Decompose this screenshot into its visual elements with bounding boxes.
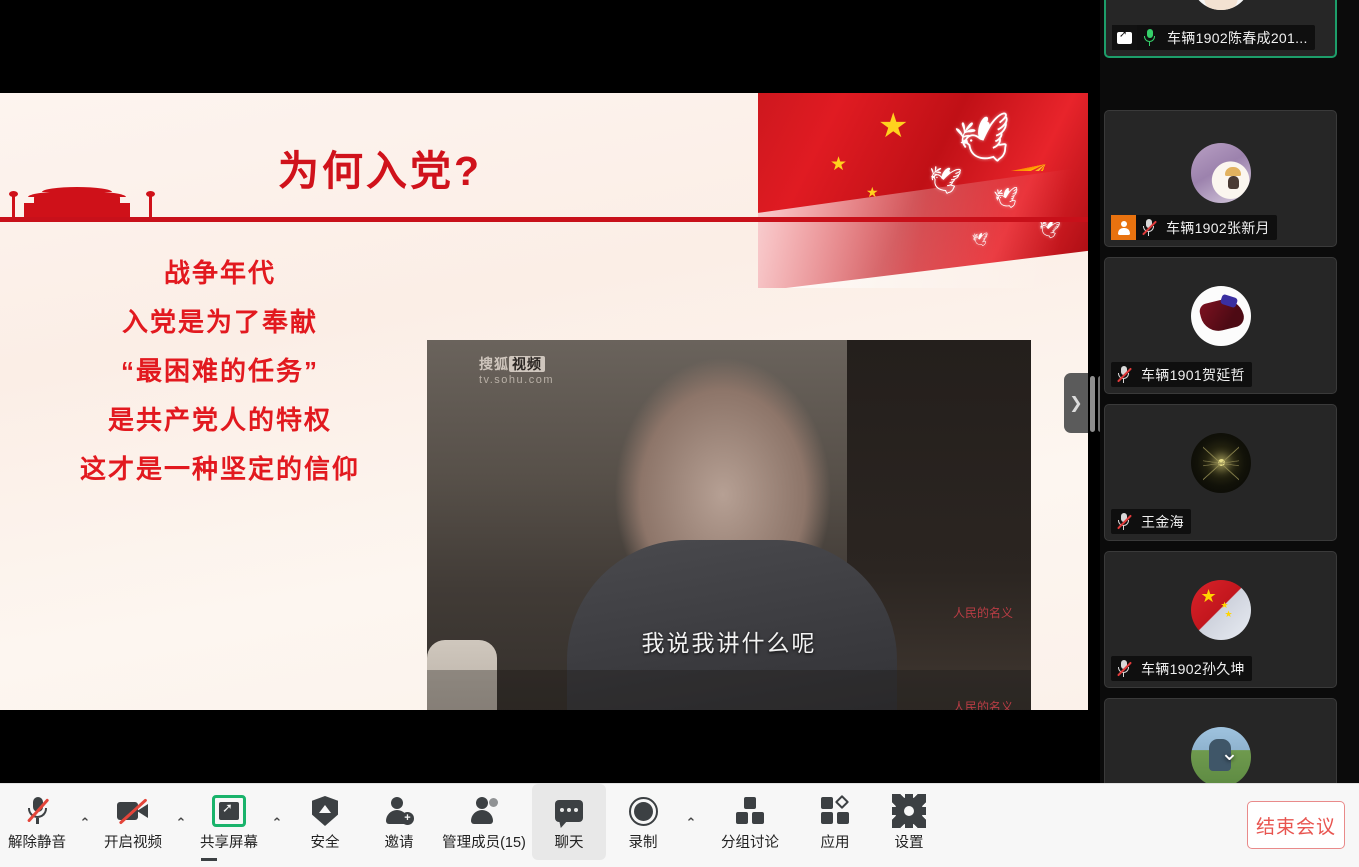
mic-on-icon bbox=[1137, 25, 1162, 50]
apps-label: 应用 bbox=[821, 831, 850, 852]
video-subtitle: 我说我讲什么呢 bbox=[427, 624, 1031, 658]
breakout-rooms-icon bbox=[735, 797, 765, 825]
dove-icon: 🕊 bbox=[952, 111, 1019, 168]
participant-name-bar: 车辆1901贺延哲 bbox=[1111, 362, 1252, 387]
settings-button[interactable]: 设置 bbox=[872, 784, 946, 860]
chevron-down-icon[interactable]: ⌄ bbox=[1220, 740, 1238, 766]
host-icon bbox=[1111, 215, 1136, 240]
chevron-right-icon[interactable]: ❯ bbox=[1064, 373, 1088, 433]
participant-tile[interactable]: 车辆1902陈春成201... bbox=[1104, 0, 1337, 58]
verse-line: 入党是为了奉献 bbox=[0, 298, 440, 347]
participant-name-bar: 车辆1902陈春成201... bbox=[1112, 25, 1315, 50]
shared-screen-stage: ★ ★ ★ 🕊 🕊 🕊 🕊 🕊 为何入党? 战争年代 入党是为了奉献 bbox=[0, 0, 1088, 783]
breakout-rooms-button[interactable]: 分组讨论 bbox=[702, 784, 798, 860]
shield-icon bbox=[312, 796, 338, 826]
participant-name: 车辆1902孙久坤 bbox=[1136, 659, 1245, 679]
security-label: 安全 bbox=[311, 831, 340, 852]
drama-watermark: 人民的名义 bbox=[953, 604, 1013, 621]
meeting-toolbar: 解除静音 ⌃ 开启视频 ⌃ 共享屏幕 ⌃ 安全 + 邀请 bbox=[0, 783, 1359, 867]
share-screen-label: 共享屏幕 bbox=[200, 831, 258, 852]
start-video-button[interactable]: 开启视频 bbox=[96, 784, 170, 860]
gear-icon bbox=[895, 797, 923, 825]
share-screen-icon bbox=[212, 795, 246, 827]
sohu-url-watermark: tv.sohu.com bbox=[479, 374, 554, 386]
verse-line: 这才是一种坚定的信仰 bbox=[0, 445, 440, 494]
end-meeting-button[interactable]: 结束会议 bbox=[1247, 801, 1345, 849]
chevron-up-icon-share[interactable]: ⌃ bbox=[266, 784, 288, 860]
invite-label: 邀请 bbox=[385, 831, 414, 852]
start-video-label: 开启视频 bbox=[104, 831, 162, 852]
avatar bbox=[1191, 433, 1251, 493]
record-button[interactable]: 录制 bbox=[606, 784, 680, 860]
unmute-label: 解除静音 bbox=[8, 831, 66, 852]
embedded-video-player[interactable]: 搜狐视频 tv.sohu.com 人民的名义 人民的名义 我说我讲什么呢 你为啥… bbox=[427, 340, 1031, 710]
share-screen-button[interactable]: 共享屏幕 bbox=[192, 784, 266, 860]
invite-person-icon: + bbox=[385, 797, 413, 825]
participant-tile[interactable]: 车辆1901贺延哲 bbox=[1104, 257, 1337, 394]
participant-sidebar[interactable]: 车辆1902陈春成201... 车辆1902张新月 车辆1901贺延哲 王金海 bbox=[1100, 0, 1359, 783]
chevron-up-icon-audio[interactable]: ⌃ bbox=[74, 784, 96, 860]
star-icon: ★ bbox=[830, 155, 847, 174]
avatar bbox=[1191, 143, 1251, 203]
participant-name: 车辆1902张新月 bbox=[1161, 218, 1270, 238]
chevron-up-icon-record[interactable]: ⌃ bbox=[680, 784, 702, 860]
apps-button[interactable]: 应用 bbox=[798, 784, 872, 860]
verse-line: “最困难的任务” bbox=[0, 347, 440, 396]
verse-line: 战争年代 bbox=[0, 249, 440, 298]
screen-share-icon bbox=[1112, 25, 1137, 50]
mic-off-icon bbox=[1111, 362, 1136, 387]
star-icon: ★ bbox=[878, 109, 908, 143]
slide-verse-list: 战争年代 入党是为了奉献 “最困难的任务” 是共产党人的特权 这才是一种坚定的信… bbox=[0, 249, 440, 494]
record-label: 录制 bbox=[629, 831, 658, 852]
participant-name: 王金海 bbox=[1136, 512, 1184, 532]
sohu-watermark: 搜狐视频 bbox=[479, 354, 545, 374]
chat-label: 聊天 bbox=[555, 831, 584, 852]
manage-participants-label: 管理成员(15) bbox=[442, 831, 526, 852]
slide-title: 为何入党? bbox=[0, 137, 760, 197]
avatar bbox=[1191, 0, 1251, 10]
mic-off-icon bbox=[1136, 215, 1161, 240]
chat-button[interactable]: 聊天 bbox=[532, 784, 606, 860]
chevron-up-icon-video[interactable]: ⌃ bbox=[170, 784, 192, 860]
record-icon bbox=[629, 797, 658, 826]
mic-off-icon bbox=[1111, 656, 1136, 681]
participant-name-bar: 王金海 bbox=[1111, 509, 1191, 534]
breakout-rooms-label: 分组讨论 bbox=[721, 831, 779, 852]
invite-button[interactable]: + 邀请 bbox=[362, 784, 436, 860]
participant-tile[interactable]: 车辆1902张新月 bbox=[1104, 110, 1337, 247]
drama-watermark: 人民的名义 bbox=[953, 698, 1013, 710]
security-button[interactable]: 安全 bbox=[288, 784, 362, 860]
header-rule bbox=[0, 217, 1088, 222]
flag-banner-decoration: ★ ★ ★ 🕊 🕊 🕊 🕊 🕊 bbox=[758, 93, 1088, 288]
mic-muted-icon bbox=[26, 796, 48, 826]
camera-off-icon bbox=[117, 800, 149, 822]
participant-tile[interactable]: 车辆1902孙久坤 bbox=[1104, 551, 1337, 688]
stage-scrollbar[interactable] bbox=[1090, 376, 1095, 432]
participant-name: 车辆1902陈春成201... bbox=[1162, 28, 1308, 48]
apps-icon bbox=[820, 797, 850, 825]
avatar bbox=[1191, 580, 1251, 640]
chat-icon bbox=[555, 800, 583, 822]
unmute-button[interactable]: 解除静音 bbox=[0, 784, 74, 860]
participants-icon bbox=[470, 797, 498, 825]
presentation-slide: ★ ★ ★ 🕊 🕊 🕊 🕊 🕊 为何入党? 战争年代 入党是为了奉献 bbox=[0, 93, 1088, 710]
participant-name-bar: 车辆1902张新月 bbox=[1111, 215, 1277, 240]
manage-participants-button[interactable]: 管理成员(15) bbox=[436, 784, 532, 860]
participant-tile[interactable]: 王金海 bbox=[1104, 404, 1337, 541]
participant-name: 车辆1901贺延哲 bbox=[1136, 365, 1245, 385]
zoom-meeting-window: ★ ★ ★ 🕊 🕊 🕊 🕊 🕊 为何入党? 战争年代 入党是为了奉献 bbox=[0, 0, 1359, 867]
verse-line: 是共产党人的特权 bbox=[0, 396, 440, 445]
settings-label: 设置 bbox=[895, 831, 924, 852]
mic-off-icon bbox=[1111, 509, 1136, 534]
participant-name-bar: 车辆1902孙久坤 bbox=[1111, 656, 1252, 681]
avatar bbox=[1191, 286, 1251, 346]
